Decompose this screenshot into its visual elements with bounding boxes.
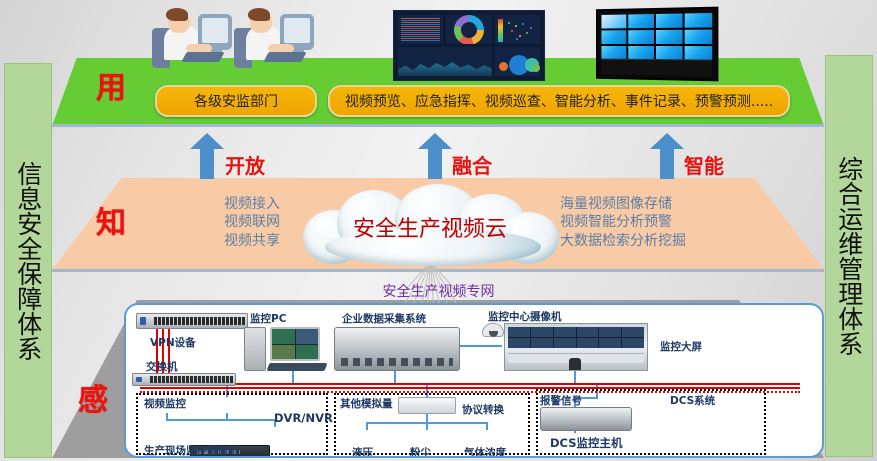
label-protocol-conversion: 协议转换	[462, 402, 504, 417]
arrow-open-icon	[190, 133, 224, 179]
layer-marker-use: 用	[96, 63, 126, 107]
label-data-collection-system: 企业数据采集系统	[342, 311, 426, 326]
arrow-label-intelligent: 智能	[684, 150, 724, 179]
left-pillar-label: 信息安全保障体系	[15, 161, 41, 361]
label-video-surveillance: 视频监控	[144, 396, 186, 411]
box-supervision-departments[interactable]: 各级安监部门	[155, 85, 317, 117]
label-dcs-host: DCS监控主机	[550, 435, 622, 451]
label-site-cameras: 生产现场监控摄像机	[144, 443, 239, 458]
cloud-capabilities-right: 海量视频图像存储 视频智能分析预警 大数据检索分析挖掘	[560, 195, 795, 250]
layer-marker-sense: 感	[78, 375, 108, 419]
architecture-diagram: 信息安全保障体系 综合运维管理体系	[0, 0, 877, 461]
protocol-converter-icon	[398, 397, 456, 414]
left-pillar-information-security: 信息安全保障体系	[4, 63, 52, 458]
arrow-label-converge: 融合	[452, 150, 492, 179]
control-room-icon	[504, 323, 648, 371]
label-alarm-signal: 报警信号	[540, 393, 582, 408]
monitor-pc-tower-icon	[244, 327, 266, 371]
right-pillar-operations-management: 综合运维管理体系	[825, 55, 873, 457]
layer-marker-know: 知	[96, 198, 126, 242]
dcs-host-icon	[540, 407, 632, 431]
cloud-label: 安全生产视频云	[285, 211, 575, 243]
infrastructure-panel: VPN设备 交换机 监控PC 企业数据采集系统 监控中心摄像机	[124, 303, 824, 458]
label-dvr-nvr: DVR/NVR	[274, 411, 333, 425]
box-application-functions[interactable]: 视频预览、应急指挥、视频巡查、智能分析、事件记录、预警预测.....	[328, 85, 790, 117]
data-collection-server-icon	[334, 327, 460, 371]
bi-dashboard-clipart	[393, 10, 545, 81]
arrow-converge-icon	[418, 133, 452, 179]
private-network-label: 安全生产视频专网	[383, 281, 495, 301]
arrow-intelligent-icon	[650, 133, 684, 179]
label-vpn-device: VPN设备	[150, 335, 196, 350]
label-center-camera: 监控中心摄像机	[488, 309, 562, 324]
label-gas-concentration: 气体浓度	[464, 445, 506, 458]
switch-icon	[132, 373, 236, 386]
label-hydraulic: 液压	[352, 445, 373, 458]
cloud-capabilities-left: 视频接入 视频联网 视频共享	[120, 195, 280, 250]
right-pillar-label: 综合运维管理体系	[836, 156, 862, 356]
label-monitor-pc: 监控PC	[250, 311, 286, 326]
layer-use-divider	[52, 124, 824, 127]
label-dcs-system: DCS系统	[670, 393, 715, 408]
vpn-device-icon	[136, 313, 248, 329]
label-big-screen: 监控大屏	[660, 339, 702, 354]
monitor-pc-keyboard-icon	[267, 363, 328, 371]
label-dust: 粉尘	[410, 445, 431, 458]
video-wall-clipart	[596, 7, 718, 82]
label-switch: 交换机	[146, 359, 178, 374]
arrow-label-open: 开放	[225, 150, 265, 179]
label-other-analog: 其他模拟量	[340, 396, 393, 411]
monitor-pc-screen-icon	[270, 327, 320, 361]
center-camera-icon	[482, 323, 504, 337]
